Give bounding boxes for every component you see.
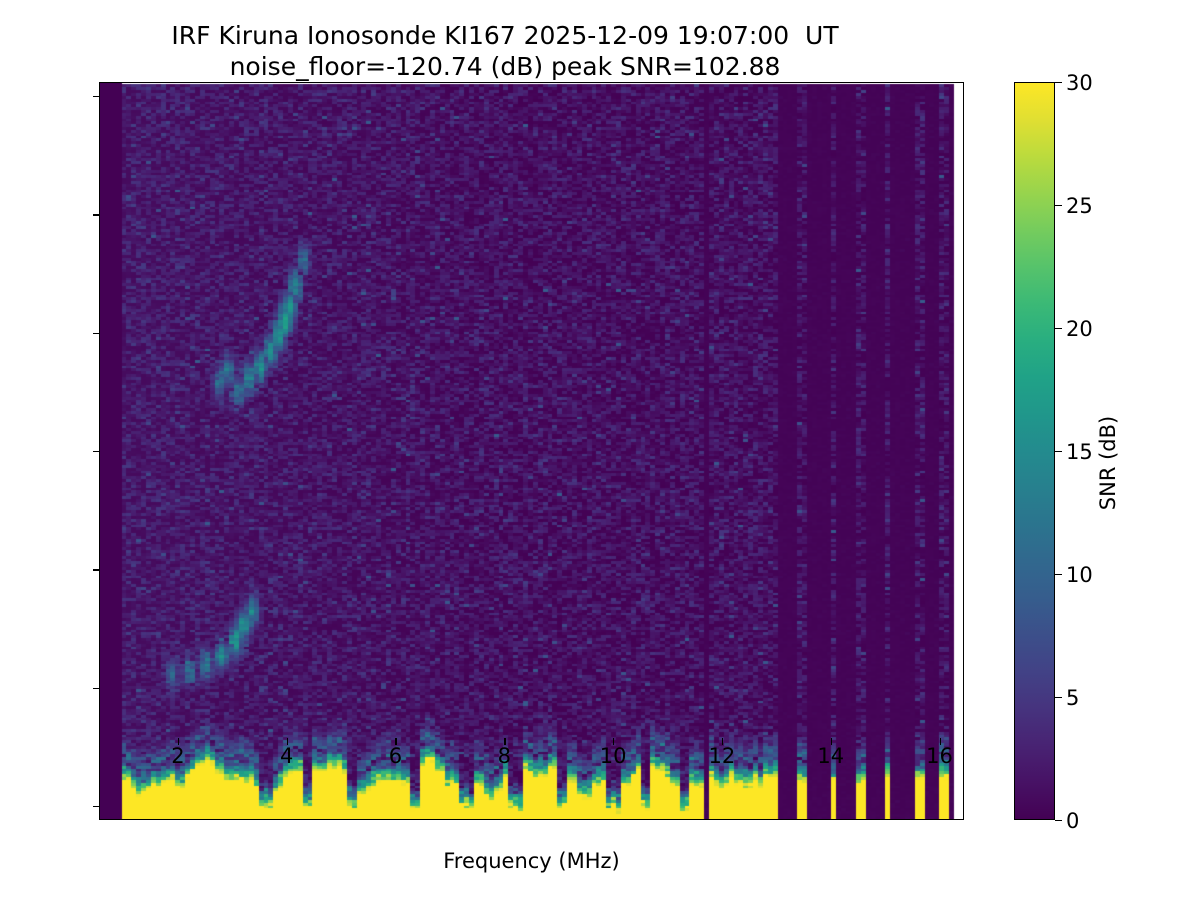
x-tick-mark <box>287 738 288 745</box>
colorbar-tick-mark <box>1055 820 1062 821</box>
x-tick-mark <box>940 738 941 745</box>
x-tick-label: 10 <box>553 744 673 768</box>
y-tick-mark <box>93 569 100 570</box>
colorbar-tick-mark <box>1055 574 1062 575</box>
x-axis-label: Frequency (MHz) <box>99 849 964 873</box>
x-tick-mark <box>395 738 396 745</box>
colorbar-gradient <box>1014 82 1055 820</box>
colorbar-tick-mark <box>1055 451 1062 452</box>
colorbar-tick-mark <box>1055 82 1062 83</box>
x-tick-label: 2 <box>118 744 238 768</box>
colorbar-tick-label: 30 <box>1066 71 1136 95</box>
colorbar-tick-label: 20 <box>1066 317 1136 341</box>
ionogram-axes <box>99 82 964 820</box>
x-tick-label: 14 <box>771 744 891 768</box>
x-tick-mark <box>613 738 614 745</box>
colorbar-tick-label: 0 <box>1066 809 1136 833</box>
x-tick-mark <box>504 738 505 745</box>
ionogram-heatmap <box>100 83 964 820</box>
colorbar-tick-mark <box>1055 697 1062 698</box>
figure-title: IRF Kiruna Ionosonde KI167 2025-12-09 19… <box>0 20 1010 82</box>
y-tick-mark <box>93 451 100 452</box>
y-tick-mark <box>93 96 100 97</box>
x-tick-mark <box>831 738 832 745</box>
colorbar-tick-mark <box>1055 328 1062 329</box>
x-tick-mark <box>178 738 179 745</box>
colorbar-tick-label: 15 <box>1066 440 1136 464</box>
x-tick-label: 8 <box>444 744 564 768</box>
x-tick-label: 6 <box>335 744 455 768</box>
colorbar-tick-mark <box>1055 205 1062 206</box>
colorbar: SNR (dB) 051015202530 <box>1014 82 1055 820</box>
y-tick-mark <box>93 806 100 807</box>
x-tick-label: 4 <box>227 744 347 768</box>
colorbar-tick-label: 10 <box>1066 563 1136 587</box>
y-tick-mark <box>93 214 100 215</box>
colorbar-tick-label: 25 <box>1066 194 1136 218</box>
x-tick-label: 16 <box>880 744 1000 768</box>
x-tick-mark <box>722 738 723 745</box>
ionogram-figure: IRF Kiruna Ionosonde KI167 2025-12-09 19… <box>0 0 1200 900</box>
colorbar-tick-label: 5 <box>1066 686 1136 710</box>
x-tick-label: 12 <box>662 744 782 768</box>
y-tick-mark <box>93 688 100 689</box>
y-tick-mark <box>93 333 100 334</box>
